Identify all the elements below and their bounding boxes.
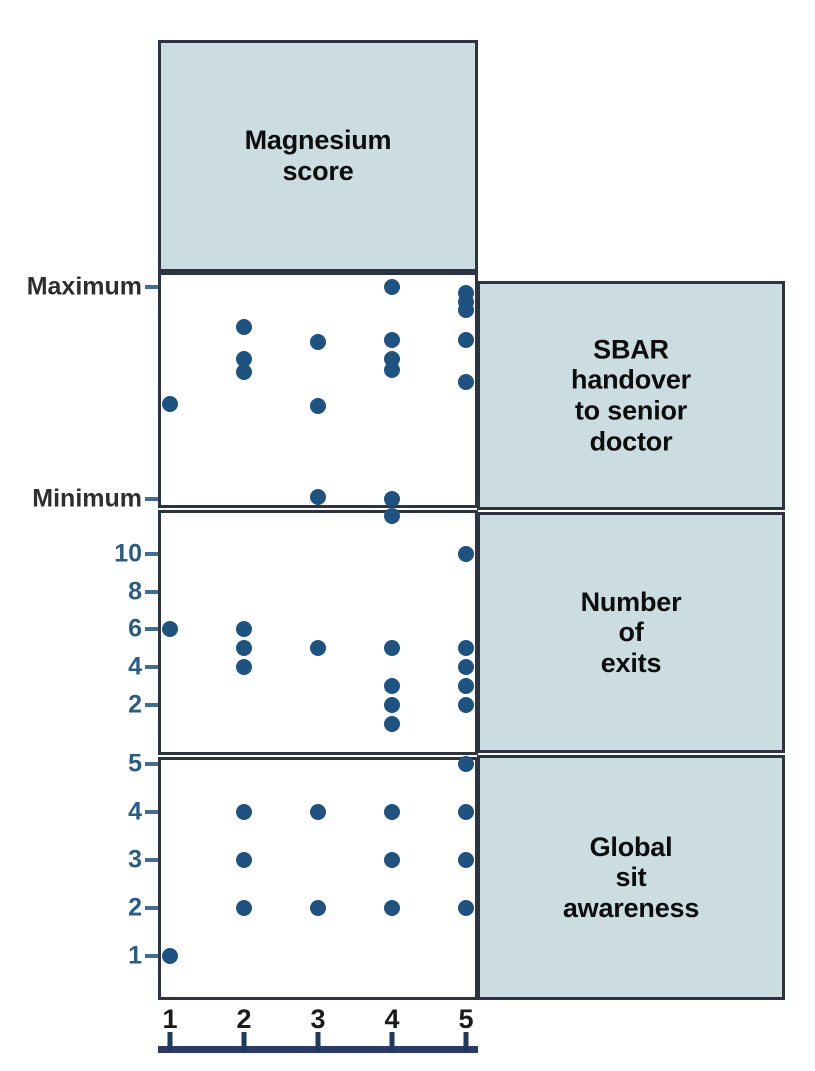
data-point-exits-1 (236, 621, 252, 637)
data-point-global-sa-5 (310, 900, 326, 916)
data-point-global-sa-11 (458, 852, 474, 868)
data-point-global-sa-0 (162, 948, 178, 964)
data-point-exits-3 (236, 659, 252, 675)
panel-sbar-handover-title: SBAR handover to senior doctor (480, 334, 782, 457)
panel-magnesium-score-title: Magnesium score (161, 125, 475, 187)
data-point-exits-4 (310, 489, 326, 505)
ytick-sbar-maximum: Maximum (0, 273, 142, 302)
data-point-sbar-9 (384, 362, 400, 378)
data-point-exits-14 (458, 678, 474, 694)
xtick-mark-2 (242, 1032, 247, 1052)
panel-sbar-handover: SBAR handover to senior doctor (477, 281, 785, 510)
ytick-global-sa-2: 2 (72, 894, 142, 923)
data-point-exits-13 (458, 659, 474, 675)
data-point-sbar-4 (310, 334, 326, 350)
ytick-sbar-maximum-mark (145, 285, 158, 289)
data-point-exits-15 (458, 697, 474, 713)
xtick-label-1: 1 (162, 1004, 177, 1035)
xtick-mark-1 (168, 1032, 173, 1052)
data-point-global-sa-2 (236, 852, 252, 868)
data-point-exits-6 (384, 508, 400, 524)
ytick-exits-8: 8 (72, 577, 142, 606)
plot-number-of-exits (158, 510, 478, 755)
ytick-exits-10-mark (145, 552, 158, 556)
panel-global-sit-awareness: Global sit awareness (477, 755, 785, 1000)
xtick-mark-5 (464, 1032, 469, 1052)
ytick-global-sa-3-mark (145, 858, 158, 862)
ytick-global-sa-4: 4 (72, 798, 142, 827)
xtick-label-4: 4 (384, 1004, 399, 1035)
data-point-exits-9 (384, 697, 400, 713)
data-point-exits-5 (310, 640, 326, 656)
data-point-global-sa-10 (458, 804, 474, 820)
ytick-exits-10: 10 (72, 539, 142, 568)
data-point-global-sa-7 (384, 852, 400, 868)
data-point-global-sa-3 (236, 900, 252, 916)
data-point-sbar-13 (458, 302, 474, 318)
ytick-sbar-minimum-mark (145, 497, 158, 501)
data-point-sbar-0 (162, 396, 178, 412)
ytick-exits-6: 6 (72, 615, 142, 644)
ytick-exits-8-mark (145, 590, 158, 594)
data-point-global-sa-4 (310, 804, 326, 820)
ytick-exits-6-mark (145, 627, 158, 631)
ytick-exits-4: 4 (72, 653, 142, 682)
data-point-sbar-10 (384, 491, 400, 507)
ytick-exits-4-mark (145, 665, 158, 669)
ytick-global-sa-3: 3 (72, 846, 142, 875)
data-point-sbar-5 (310, 398, 326, 414)
ytick-global-sa-5-mark (145, 762, 158, 766)
data-point-exits-2 (236, 640, 252, 656)
ytick-sbar-minimum: Minimum (0, 485, 142, 514)
data-point-sbar-6 (384, 279, 400, 295)
data-point-global-sa-6 (384, 804, 400, 820)
data-point-exits-8 (384, 678, 400, 694)
ytick-exits-2-mark (145, 703, 158, 707)
ytick-global-sa-2-mark (145, 906, 158, 910)
data-point-global-sa-1 (236, 804, 252, 820)
ytick-global-sa-1-mark (145, 954, 158, 958)
xtick-mark-3 (316, 1032, 321, 1052)
xtick-label-3: 3 (310, 1004, 325, 1035)
data-point-sbar-14 (458, 332, 474, 348)
data-point-exits-0 (162, 621, 178, 637)
data-point-sbar-3 (236, 364, 252, 380)
data-point-sbar-1 (236, 319, 252, 335)
data-point-global-sa-12 (458, 900, 474, 916)
plot-sbar-handover (158, 272, 478, 508)
data-point-exits-7 (384, 640, 400, 656)
data-point-global-sa-9 (458, 756, 474, 772)
panel-magnesium-score: Magnesium score (158, 40, 478, 272)
xtick-label-5: 5 (458, 1004, 473, 1035)
xtick-label-2: 2 (236, 1004, 251, 1035)
panel-number-of-exits: Number of exits (477, 512, 785, 753)
data-point-exits-12 (458, 640, 474, 656)
ytick-global-sa-1: 1 (72, 942, 142, 971)
xtick-mark-4 (390, 1032, 395, 1052)
data-point-sbar-15 (458, 374, 474, 390)
data-point-exits-10 (384, 716, 400, 732)
scatter-plot-matrix: Magnesium score SBAR handover to senior … (0, 0, 815, 1071)
ytick-global-sa-5: 5 (72, 750, 142, 779)
data-point-exits-11 (458, 546, 474, 562)
panel-number-of-exits-title: Number of exits (480, 586, 782, 678)
data-point-global-sa-8 (384, 900, 400, 916)
data-point-sbar-7 (384, 332, 400, 348)
ytick-exits-2: 2 (72, 691, 142, 720)
plot-global-sit-awareness (158, 757, 478, 1000)
ytick-global-sa-4-mark (145, 810, 158, 814)
panel-global-sit-awareness-title: Global sit awareness (480, 831, 782, 923)
